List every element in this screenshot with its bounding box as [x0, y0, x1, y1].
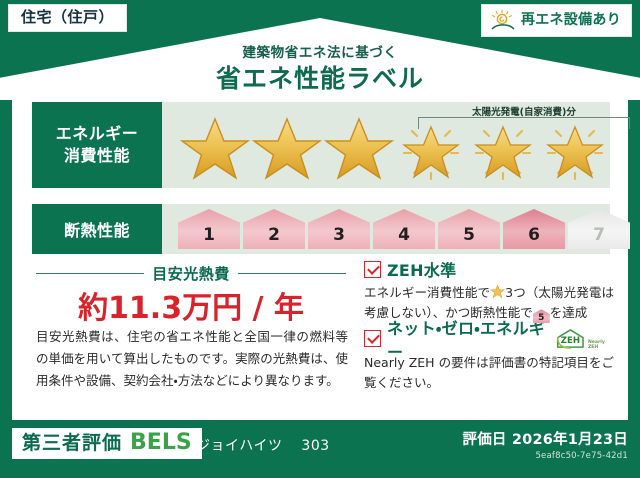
zeh-logo: ZEH Nearly ZEH	[555, 327, 614, 351]
insulation-label-box: 断熱性能	[32, 204, 162, 254]
renewable-equipment-badge: 再エネ設備あり	[481, 4, 632, 37]
level-value: 1	[203, 225, 215, 245]
star-icon	[324, 115, 394, 183]
star-solar-icon	[468, 115, 538, 183]
cost-rule-right	[238, 273, 346, 275]
zeh-desc-part1: エネルギー消費性能で	[364, 285, 490, 300]
energy-performance-row: エネルギー 消費性能 太陽光発電(自家消費)分	[32, 102, 610, 188]
level-value: 4	[398, 225, 410, 245]
zeh-standard-title: ZEH水準	[387, 257, 456, 281]
checkbox-checked-icon	[364, 330, 381, 347]
energy-performance-label: 住宅（住戸） 再エネ設備あり 建築物省エネ法に基づく 省エネ性能ラベル エネルギ…	[0, 0, 640, 478]
renewable-equipment-label: 再エネ設備あり	[521, 13, 621, 27]
svg-text:ZEH: ZEH	[561, 336, 580, 346]
energy-label-line1: エネルギー	[56, 123, 139, 145]
housing-type-badge: 住宅（住戸）	[8, 4, 127, 32]
energy-performance-label-box: エネルギー 消費性能	[32, 102, 162, 188]
bels-en-label: BELS	[130, 432, 192, 454]
zeh-net-zero-item: ネット・ゼロ・エネルギー ZEH Nearly ZEH Nearly ZEH の…	[364, 328, 614, 394]
star-icon	[252, 115, 322, 183]
zeh-house-logo-icon: ZEH	[555, 327, 586, 351]
evaluation-date: 評価日 2026年1月23日	[463, 428, 628, 449]
insulation-level-3: 3	[308, 209, 370, 249]
label-body-card: エネルギー 消費性能 太陽光発電(自家消費)分	[12, 98, 628, 420]
estimated-utility-cost-value: 約11.3万円 / 年	[36, 283, 346, 327]
level-value: 7	[593, 225, 605, 245]
cost-rule-left	[36, 273, 144, 275]
zeh-logo-subtext: Nearly ZEH	[588, 340, 614, 351]
evaluation-date-label: 評価日	[463, 432, 507, 448]
label-subtitle: 建築物省エネ法に基づく	[0, 41, 640, 61]
level-value: 3	[333, 225, 345, 245]
zeh-section: ZEH水準 エネルギー消費性能で3つ（太陽光発電は考慮しない）、かつ断熱性能で5…	[364, 258, 614, 397]
star-3	[324, 109, 394, 181]
estimated-utility-cost-note: 目安光熱費は、住宅の省エネ性能と全国一律の燃料等の単価を用いて算出したものです。…	[36, 326, 348, 392]
energy-star-rating	[174, 102, 610, 188]
star-6-solar	[540, 109, 610, 181]
cost-heading-label: 目安光熱費	[152, 263, 230, 284]
insulation-level-4: 4	[373, 209, 435, 249]
evaluation-date-block: 評価日 2026年1月23日 5eaf8c50-7e75-42d1	[463, 428, 628, 461]
bels-jp-label: 第三者評価	[22, 434, 122, 453]
checkbox-checked-icon	[364, 261, 381, 278]
cost-heading: 目安光熱費	[36, 263, 346, 284]
building-name: ジョイハイツ	[196, 438, 282, 454]
room-number: 303	[301, 438, 329, 454]
insulation-level-2: 2	[243, 209, 305, 249]
insulation-level-5: 5	[438, 209, 500, 249]
insulation-level-1: 1	[178, 209, 240, 249]
star-4-solar	[396, 109, 466, 181]
insulation-level-7: 7	[568, 209, 630, 249]
evaluation-id: 5eaf8c50-7e75-42d1	[463, 451, 628, 461]
label-footer: 第三者評価 BELS ジョイハイツ 303 評価日 2026年1月23日 5ea…	[0, 424, 640, 478]
evaluation-date-value: 2026年1月23日	[512, 432, 628, 448]
star-1	[180, 109, 250, 181]
star-solar-icon	[396, 115, 466, 183]
label-title: 省エネ性能ラベル	[0, 59, 640, 95]
energy-label-line2: 消費性能	[64, 145, 130, 167]
housing-type-label: 住宅（住戸）	[21, 8, 114, 26]
star-solar-icon	[540, 115, 610, 183]
insulation-level-scale: 1 2 3 4 5 6 7	[178, 204, 630, 254]
star-5-solar	[468, 109, 538, 181]
zeh-desc-stars: 3つ（太陽光発電	[505, 285, 601, 300]
building-info: ジョイハイツ 303	[196, 435, 330, 455]
bels-badge: 第三者評価 BELS	[12, 428, 202, 459]
level-value: 5	[463, 225, 475, 245]
zeh-standard-header: ZEH水準	[364, 258, 614, 280]
insulation-level-6: 6	[503, 209, 565, 249]
level-value: 2	[268, 225, 280, 245]
star-2	[252, 109, 322, 181]
insulation-performance-row: 断熱性能 1 2 3 4 5 6 7	[32, 204, 610, 254]
star-icon	[180, 115, 250, 183]
house-badge-icon: 5	[533, 309, 550, 323]
star-icon	[490, 284, 505, 299]
sun-icon	[490, 9, 516, 31]
zeh-net-zero-description: Nearly ZEH の要件は評価書の特記項目をご覧ください。	[364, 353, 614, 394]
insulation-label: 断熱性能	[64, 217, 130, 241]
zeh-net-zero-header: ネット・ゼロ・エネルギー ZEH Nearly ZEH	[364, 328, 614, 350]
level-value: 6	[528, 225, 540, 245]
zeh-desc-part3: を達成	[550, 305, 588, 320]
